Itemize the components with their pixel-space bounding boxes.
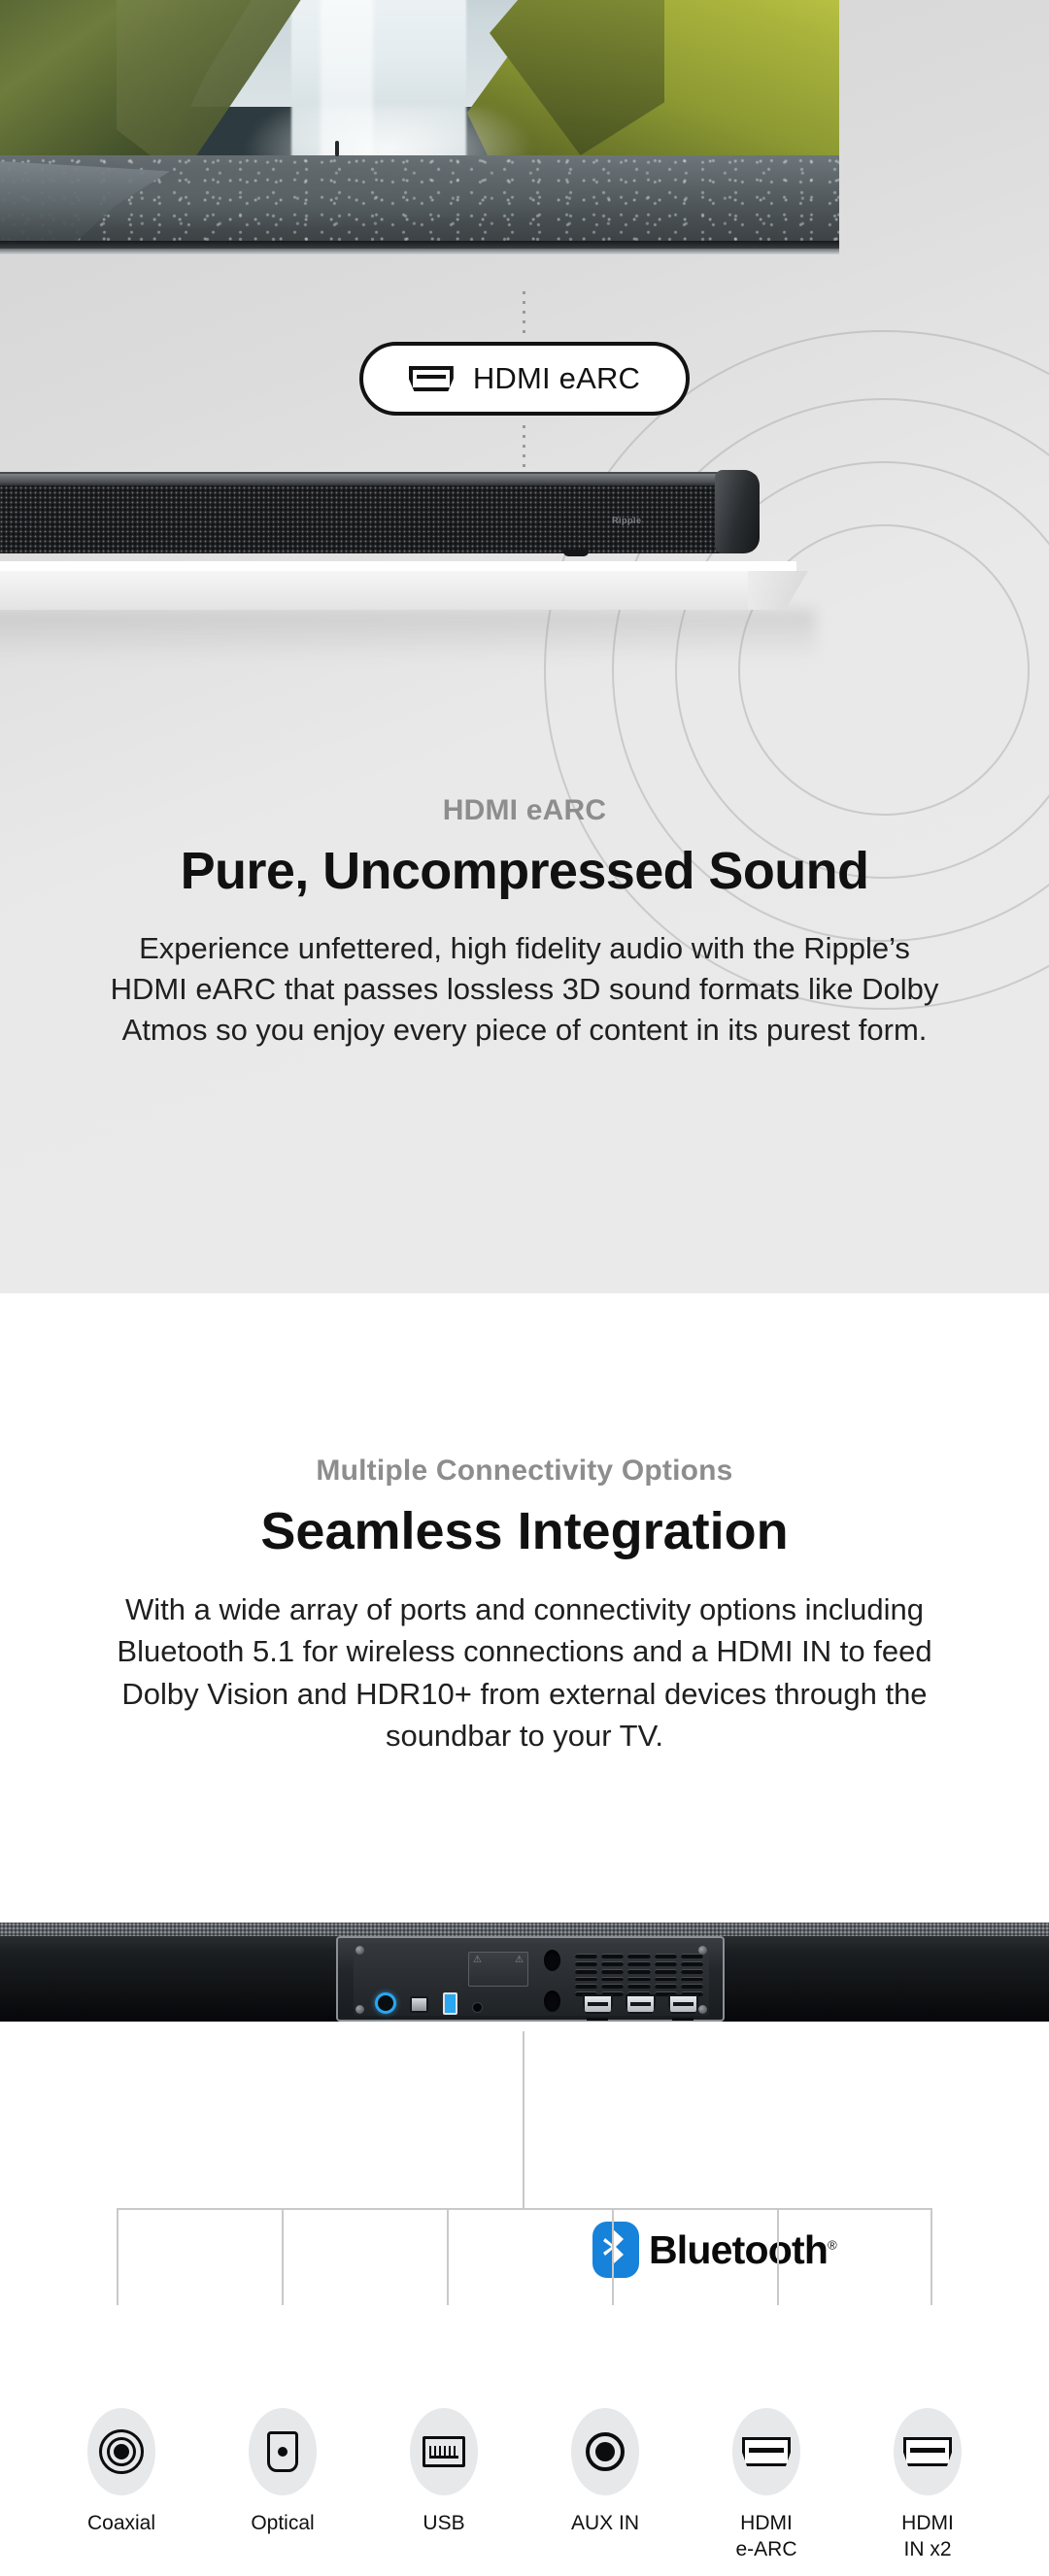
earc-eyebrow: HDMI eARC [443,794,606,827]
mount-hole [544,1991,560,2012]
rear-usb-port [443,1992,457,2015]
aux-icon-bg [571,2408,639,2495]
rear-optical-port [410,1996,428,2013]
soundbar-rear-section [0,1915,1049,2031]
shelf-front [0,571,748,610]
connector-dots-top [523,291,525,338]
port-label: HDMI e-ARC [735,2511,796,2563]
tv-body [0,249,839,254]
connectivity-eyebrow: Multiple Connectivity Options [316,1455,732,1488]
panel-screw [355,2005,364,2014]
port-label: USB [423,2511,464,2537]
hdmi-earc-badge-label: HDMI eARC [473,361,640,396]
soundbar-brand-logo: Ripple [612,515,686,525]
port-item-usb[interactable]: USB [380,2408,508,2563]
panel-screw [355,1946,364,1955]
bluetooth-wordmark-text: Bluetooth [649,2227,828,2272]
connector-drop [612,2208,614,2305]
port-item-optical[interactable]: Optical [219,2408,347,2563]
vent-grille [575,1954,703,1996]
port-icon-row: Coaxial Optical USB AUX IN HDMI e-ARC [0,2408,1049,2563]
coaxial-port-icon [99,2429,144,2474]
connectivity-diagram-section: Bluetooth® Coaxial Optical USB [0,2031,1049,2576]
connector-drop [447,2208,449,2305]
earc-text-block: HDMI eARC Pure, Uncompressed Sound Exper… [0,738,1049,1293]
connector-drop [777,2208,779,2305]
television [0,0,839,282]
connectivity-headline: Seamless Integration [260,1501,788,1561]
soundbar-rear-mesh [0,1923,1049,1936]
port-item-coaxial[interactable]: Coaxial [57,2408,186,2563]
connector-lines [0,2031,1049,2225]
shelf-top [0,561,796,571]
shelf-shadow [0,610,816,660]
mount-hole [544,1950,560,1971]
port-item-hdmi-in[interactable]: HDMI IN x2 [863,2408,992,2563]
usb-port-icon [423,2436,465,2467]
bluetooth-registered-mark: ® [828,2237,836,2252]
person-silhouette [335,141,339,156]
usb-icon-bg [410,2408,478,2495]
optical-icon-bg [249,2408,317,2495]
hdmi-earc-icon-bg [732,2408,800,2495]
port-item-hdmi-earc[interactable]: HDMI e-ARC [702,2408,830,2563]
panel-screw [698,2005,707,2014]
connectivity-paragraph: With a wide array of ports and connectiv… [97,1589,952,1757]
rear-hdmi-shadow [587,2018,608,2021]
tv-bezel [0,241,839,249]
soundbar-top-edge [0,474,758,484]
rear-coaxial-port [375,1992,396,2014]
aux-port-icon [586,2432,625,2471]
connector-bus [117,2208,932,2210]
bluetooth-wordmark: Bluetooth® [649,2227,836,2273]
connector-stem [523,2031,524,2208]
hdmi-earc-badge: HDMI eARC [359,342,690,416]
port-item-aux[interactable]: AUX IN [541,2408,669,2563]
warning-label [468,1952,528,1987]
port-label: Optical [251,2511,314,2537]
hdmi-port-icon [409,366,454,391]
soundbar-end-cap [715,470,760,553]
bluetooth-icon [592,2222,639,2278]
port-label: HDMI IN x2 [901,2511,954,2563]
hdmi-in-icon-bg [894,2408,962,2495]
soundbar-foot [563,550,589,556]
hdmi-earc-port-icon [742,2437,791,2466]
port-label: AUX IN [571,2511,639,2537]
connector-drop [931,2208,932,2305]
coaxial-icon-bg [87,2408,155,2495]
rear-hdmi-port [668,1994,698,2014]
rear-port-panel [336,1936,725,2022]
earc-headline: Pure, Uncompressed Sound [181,841,869,901]
bluetooth-logo: Bluetooth® [592,2222,836,2278]
rear-aux-port [472,2002,483,2013]
port-label: Coaxial [87,2511,155,2537]
optical-port-icon [267,2431,298,2472]
soundbar-body: Ripple [0,472,758,552]
earc-paragraph: Experience unfettered, high fidelity aud… [97,928,952,1051]
rear-hdmi-port [583,1994,613,2014]
rear-hdmi-shadow [672,2018,694,2021]
connector-drop [282,2208,284,2305]
rear-hdmi-port [626,1994,656,2014]
soundbar-front: Ripple [0,464,816,571]
connectivity-text-section: Multiple Connectivity Options Seamless I… [0,1293,1049,1915]
tv-screen [0,0,839,241]
connector-drop [117,2208,118,2305]
hdmi-in-port-icon [903,2437,952,2466]
rear-port-panel-inner [354,1944,709,2016]
hero-section: HDMI eARC Ripple HDMI eARC Pure, Uncompr… [0,0,1049,1293]
